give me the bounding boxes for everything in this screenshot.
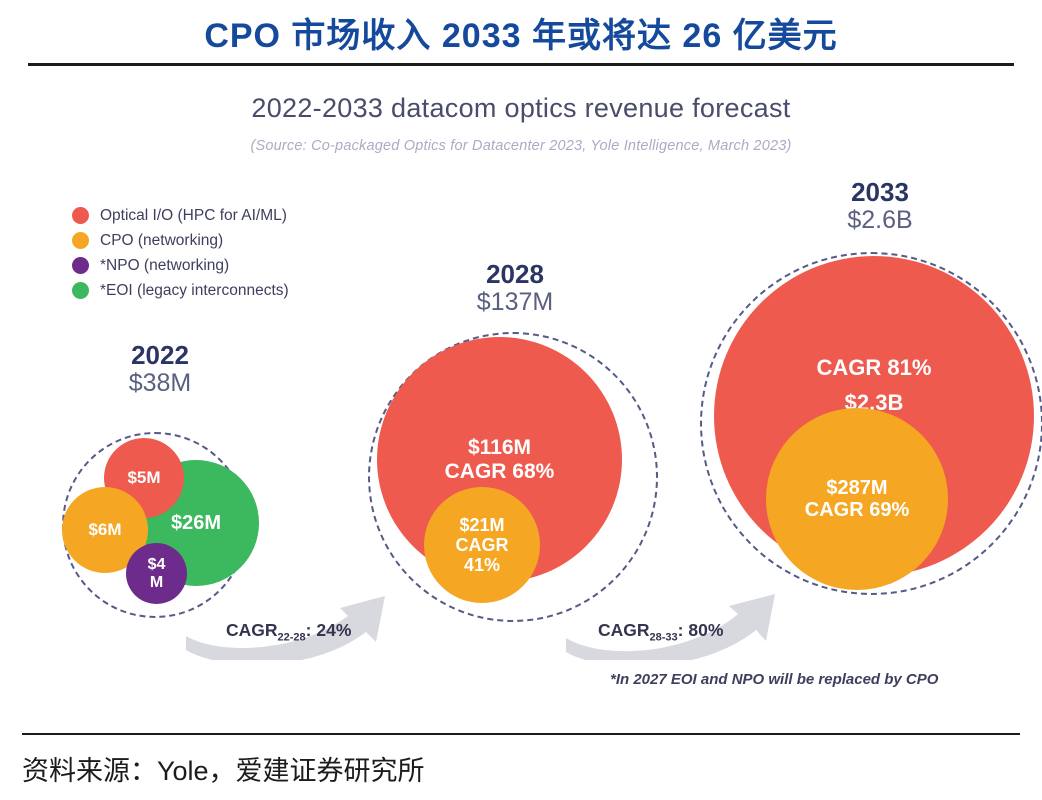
bubble-2033-cpo-value: $287M — [826, 477, 887, 499]
bubble-2028-optical-io-value: $116M — [468, 436, 531, 460]
cluster-label-2028: 2028 $137M — [430, 260, 600, 317]
bubble-2028-cpo-value: $21M — [459, 515, 504, 535]
legend-label-npo: *NPO (networking) — [100, 257, 229, 275]
header-band: CPO 市场收入 2033 年或将达 26 亿美元 — [0, 0, 1042, 72]
bubble-2028-cpo-cagr: CAGR — [456, 535, 509, 555]
arrow-label-2022-2028-prefix: CAGR — [226, 620, 278, 640]
legend-dot-npo — [72, 257, 89, 274]
legend-dot-optical-io — [72, 207, 89, 224]
cluster-total-2022: $38M — [85, 369, 235, 398]
legend-label-eoi: *EOI (legacy interconnects) — [100, 282, 289, 300]
bubble-2022-npo-value: $4 — [148, 556, 166, 574]
cluster-year-2028: 2028 — [430, 260, 600, 288]
arrow-label-2028-2033-sub: 28-33 — [650, 632, 678, 644]
cluster-year-2033: 2033 — [790, 178, 970, 206]
bubble-2022-npo-unit: M — [150, 574, 163, 592]
cluster-label-2033: 2033 $2.6B — [790, 178, 970, 235]
bubble-2028-cpo: $21M CAGR 41% — [424, 487, 540, 603]
cluster-year-2022: 2022 — [85, 341, 235, 369]
bubble-2033-cpo-cagr: CAGR 69% — [805, 499, 909, 521]
legend-label-cpo: CPO (networking) — [100, 232, 223, 250]
figure-source-note: (Source: Co-packaged Optics for Datacent… — [0, 138, 1042, 154]
figure-page: CPO 市场收入 2033 年或将达 26 亿美元 2022-2033 data… — [0, 0, 1042, 800]
bubble-2022-npo: $4 M — [126, 543, 187, 604]
legend-item-optical-io: Optical I/O (HPC for AI/ML) — [72, 203, 372, 228]
arrow-label-2022-2028: CAGR22-28: 24% — [226, 620, 351, 644]
legend: Optical I/O (HPC for AI/ML) CPO (network… — [72, 203, 372, 303]
arrow-label-2022-2028-sub: 22-28 — [278, 632, 306, 644]
arrow-label-2028-2033-value: : 80% — [678, 620, 724, 640]
bubble-2022-optical-io-value: $5M — [127, 468, 160, 487]
figure-footnote: *In 2027 EOI and NPO will be replaced by… — [610, 671, 938, 688]
bubble-2028-cpo-cagr-value: 41% — [464, 555, 500, 575]
legend-item-cpo: CPO (networking) — [72, 228, 372, 253]
title-divider — [28, 63, 1014, 66]
cluster-total-2028: $137M — [430, 288, 600, 317]
bubble-2022-eoi-value: $26M — [171, 512, 221, 534]
legend-dot-cpo — [72, 232, 89, 249]
bottom-divider — [22, 733, 1020, 735]
legend-label-optical-io: Optical I/O (HPC for AI/ML) — [100, 207, 287, 225]
legend-dot-eoi — [72, 282, 89, 299]
bubble-2028-optical-io-cagr: CAGR 68% — [445, 460, 555, 484]
cluster-label-2022: 2022 $38M — [85, 341, 235, 398]
arrow-label-2028-2033: CAGR28-33: 80% — [598, 620, 723, 644]
page-title: CPO 市场收入 2033 年或将达 26 亿美元 — [0, 8, 1042, 57]
cluster-total-2033: $2.6B — [790, 206, 970, 235]
legend-item-eoi: *EOI (legacy interconnects) — [72, 278, 372, 303]
arrow-label-2028-2033-prefix: CAGR — [598, 620, 650, 640]
bubble-2022-cpo-value: $6M — [88, 520, 121, 539]
bubble-2033-optical-io-cagr: CAGR 81% — [817, 356, 932, 381]
bottom-source-label: 资料来源：Yole，爱建证券研究所 — [22, 749, 425, 788]
figure-title: 2022-2033 datacom optics revenue forecas… — [0, 93, 1042, 124]
legend-item-npo: *NPO (networking) — [72, 253, 372, 278]
arrow-label-2022-2028-value: : 24% — [306, 620, 352, 640]
bubble-2033-cpo: $287M CAGR 69% — [766, 408, 948, 590]
